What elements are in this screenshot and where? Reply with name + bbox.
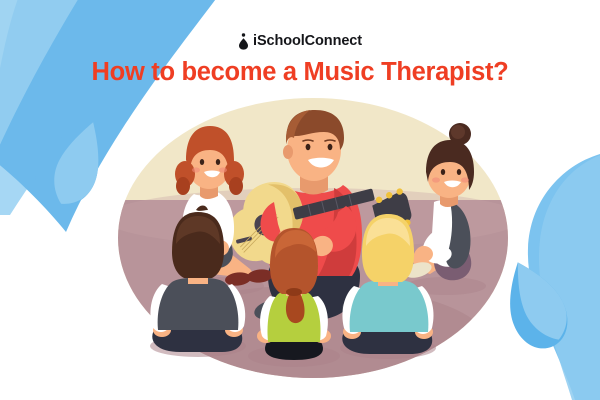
right-large-blob-highlight xyxy=(539,150,600,400)
brand-logo: iSchoolConnect xyxy=(0,33,600,50)
right-large-blob-shape xyxy=(528,150,600,400)
music-therapy-illustration xyxy=(118,98,508,378)
left-droplet-shape xyxy=(24,108,119,216)
article-banner: iSchoolConnect How to become a Music The… xyxy=(0,0,600,400)
brand-name: iSchoolConnect xyxy=(253,34,362,49)
swoosh-highlight-shape xyxy=(0,0,90,190)
page-title: How to become a Music Therapist? xyxy=(0,58,600,87)
droplet-icon xyxy=(238,33,249,50)
